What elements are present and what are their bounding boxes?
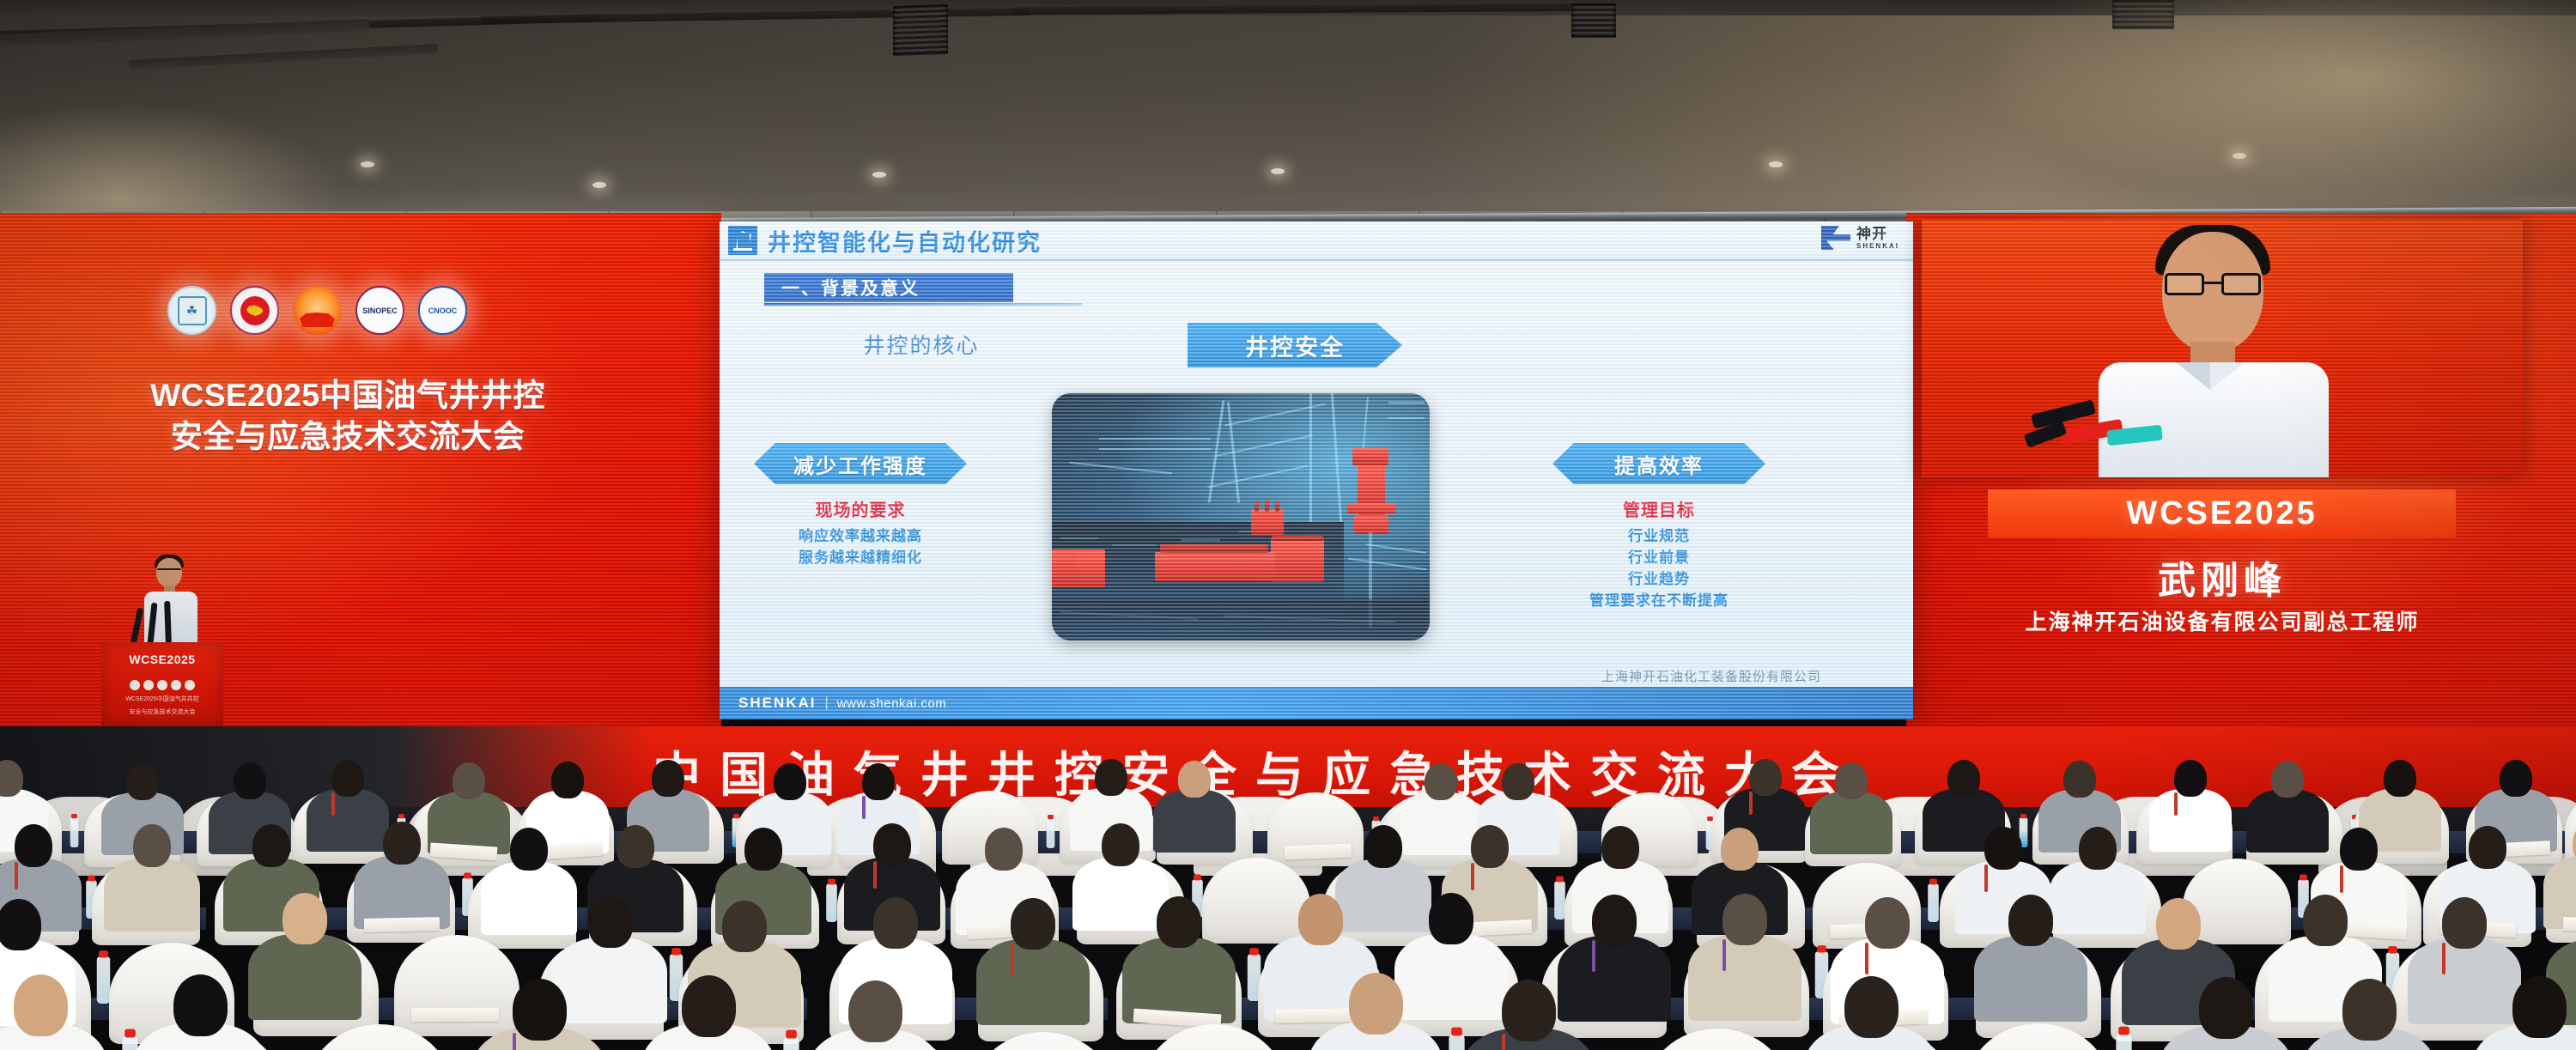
- drilling-rig-3d-image: [1052, 393, 1430, 640]
- footer-brand: SHENKAI: [738, 695, 817, 712]
- ceiling-light: [872, 172, 886, 178]
- section-underline: [764, 303, 1082, 306]
- right-column-item: 管理要求在不断提高: [1544, 590, 1774, 611]
- ceiling-light: [361, 161, 374, 167]
- right-column-heading: 管理目标: [1544, 496, 1774, 521]
- sinopec-logo: SINOPEC: [355, 286, 404, 335]
- association-logo: [230, 286, 279, 335]
- ceiling-light: [1769, 161, 1783, 167]
- audience-member: [1804, 976, 1938, 1050]
- speaker-role: 上海神开石油设备有限公司副总工程师: [1922, 605, 2523, 636]
- slide-footer: SHENKAI | www.shenkai.com: [720, 687, 1913, 719]
- projected-slide: 井控智能化与自动化研究 神开 SHENKAI 一、背景及意义 井控的核心 井控安…: [720, 222, 1913, 719]
- chair: [1141, 1024, 1287, 1050]
- slide-core-label: 井控的核心: [823, 329, 1020, 360]
- podium-title: WCSE2025: [101, 652, 223, 666]
- speaker-event-plate: WCSE2025: [1988, 489, 2456, 537]
- footer-divider: |: [825, 695, 829, 711]
- slide-company-name: 上海神开石油化工装备股份有限公司: [1527, 667, 1896, 685]
- audience-member-head: [14, 974, 68, 1036]
- audience-member: [808, 980, 942, 1050]
- audience-member: [2472, 976, 2576, 1050]
- audience-member: [1461, 980, 1595, 1050]
- audience-member: [0, 974, 107, 1050]
- conference-hall-scene: ☘ SINOPEC CNOOC WCSE2025中国油气井井控 安全与应急技术交…: [0, 0, 2576, 1050]
- ceiling-light: [592, 182, 606, 188]
- footer-url: www.shenkai.com: [837, 696, 947, 711]
- cnooc-logo: CNOOC: [418, 286, 467, 335]
- chevron-improve-efficiency: 提高效率: [1552, 443, 1765, 484]
- audience-member-head: [2199, 977, 2253, 1039]
- sinopec-logo-label: SINOPEC: [362, 307, 398, 315]
- audience-member-head: [848, 980, 902, 1042]
- audience-member: [133, 974, 267, 1050]
- audience-member-head: [2512, 976, 2567, 1038]
- audience-member-head: [2342, 979, 2397, 1041]
- presenter-glasses: [157, 568, 181, 574]
- left-column-item: 服务越来越精细化: [745, 547, 975, 568]
- audience-member: [2159, 977, 2293, 1050]
- chair: [1965, 1023, 2111, 1050]
- slide-section-title: 一、背景及意义: [764, 273, 1013, 302]
- podium-subtitle-line2: 安全与应急技术交流大会: [101, 708, 223, 716]
- chair: [307, 1024, 453, 1050]
- speaker-video-panel: [1922, 220, 2523, 477]
- right-column-item: 行业趋势: [1544, 568, 1774, 590]
- slide-left-column: 现场的要求 响应效率越来越高 服务越来越精细化: [745, 496, 975, 568]
- speaker-glasses: [2165, 273, 2261, 295]
- shenkai-logo: 神开 SHENKAI: [1821, 226, 1899, 250]
- cnooc-logo-label: CNOOC: [428, 307, 458, 315]
- chevron-well-control-safety: 井控安全: [1188, 323, 1402, 367]
- audience-member-head: [513, 979, 567, 1041]
- audience-row: [0, 756, 2576, 1050]
- petrochina-logo: [293, 286, 342, 335]
- slide-right-column: 管理目标 行业规范 行业前景 行业趋势 管理要求在不断提高: [1544, 496, 1774, 611]
- cape-logo: ☘: [167, 286, 216, 335]
- ceiling: [0, 0, 2576, 222]
- audience-member-head: [1844, 976, 1899, 1038]
- podium-area: WCSE2025 WCSE2025中国油气井井控 安全与应急技术交流大会: [101, 546, 223, 728]
- chevron-reduce-workload: 减少工作强度: [754, 443, 967, 484]
- shenkai-logo-en: SHENKAI: [1856, 243, 1899, 250]
- ceiling-vent: [893, 4, 948, 56]
- left-column-item: 响应效率越来越高: [745, 525, 975, 547]
- podium-lectern: WCSE2025 WCSE2025中国油气井井控 安全与应急技术交流大会: [101, 642, 223, 728]
- audience-member-head: [682, 975, 736, 1037]
- sponsor-logos: ☘ SINOPEC CNOOC: [167, 286, 467, 335]
- slide-header: 井控智能化与自动化研究 神开 SHENKAI: [720, 222, 1913, 261]
- speaker-name: 武刚峰: [1922, 549, 2523, 604]
- event-banner-title: WCSE2025中国油气井井控 安全与应急技术交流大会: [69, 375, 627, 458]
- right-column-item: 行业前景: [1544, 547, 1774, 568]
- water-bottle: [783, 1038, 799, 1050]
- audience-member: [472, 979, 606, 1050]
- water-bottle: [2116, 1035, 2131, 1050]
- audience-member-head: [1349, 973, 1403, 1035]
- banner-title-line2: 安全与应急技术交流大会: [69, 416, 627, 458]
- audience-member-head: [173, 974, 228, 1036]
- slide-header-title: 井控智能化与自动化研究: [768, 224, 1042, 258]
- audience-area: [0, 756, 2576, 1050]
- shenkai-logo-mark: [1821, 226, 1850, 250]
- podium-logos: [101, 680, 223, 690]
- chair: [970, 1032, 1116, 1050]
- shenkai-logo-cn: 神开: [1856, 227, 1899, 241]
- audience-member: [1309, 973, 1443, 1050]
- ceiling-light: [2233, 153, 2246, 159]
- audience-member-head: [1502, 980, 1556, 1041]
- ceiling-vent: [2112, 0, 2174, 29]
- oil-pumpjack-icon: [728, 226, 757, 255]
- ceiling-light: [1271, 168, 1285, 174]
- podium-subtitle-line1: WCSE2025中国油气井井控: [101, 695, 223, 703]
- chair: [1644, 1029, 1790, 1050]
- audience-lanyard: [1502, 1034, 1505, 1050]
- banner-title-line1: WCSE2025中国油气井井控: [69, 375, 627, 416]
- speaker-portrait: [2025, 225, 2428, 477]
- left-column-heading: 现场的要求: [745, 496, 975, 521]
- audience-member: [641, 975, 775, 1050]
- audience-member: [2302, 979, 2436, 1050]
- audience-lanyard: [513, 1033, 516, 1050]
- right-column-item: 行业规范: [1544, 525, 1774, 547]
- ceiling-vent: [1571, 3, 1616, 38]
